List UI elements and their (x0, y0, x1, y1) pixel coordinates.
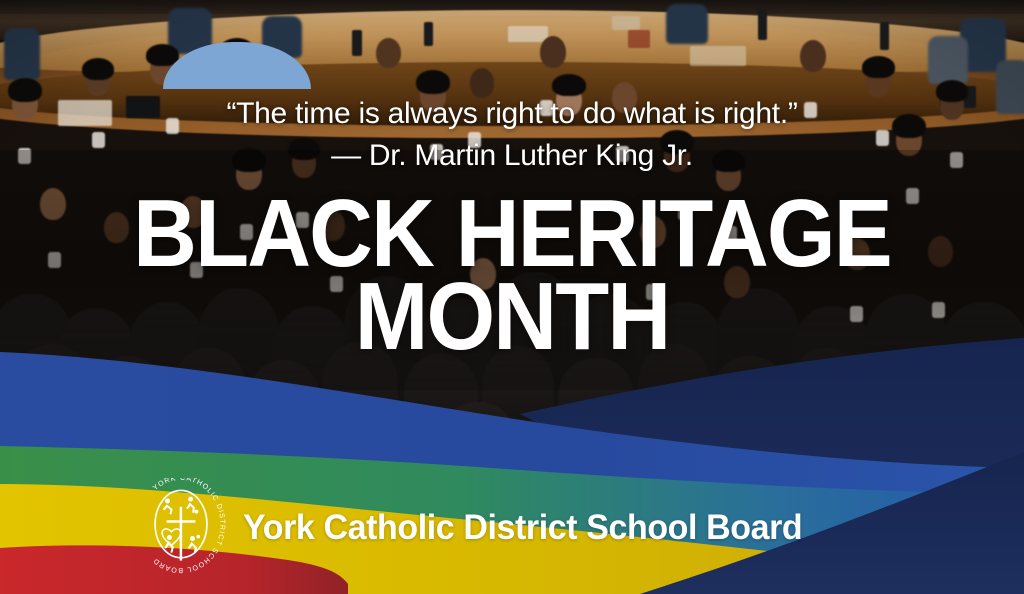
quote-text: “The time is always right to do what is … (0, 98, 1024, 130)
black-heritage-month-graphic: “The time is always right to do what is … (0, 0, 1024, 594)
ycdsb-crest-icon: YORK CATHOLIC DISTRICT SCHOOL BOARD (133, 478, 229, 574)
board-name: York Catholic District School Board (243, 508, 802, 548)
quote-block: “The time is always right to do what is … (0, 98, 1024, 171)
page-title: BLACK HERITAGE MONTH (0, 196, 1024, 356)
footer-brand: YORK CATHOLIC DISTRICT SCHOOL BOARD York… (133, 478, 820, 574)
quote-attribution: — Dr. Martin Luther King Jr. (0, 140, 1024, 172)
title-line-1: BLACK HERITAGE (41, 196, 983, 273)
